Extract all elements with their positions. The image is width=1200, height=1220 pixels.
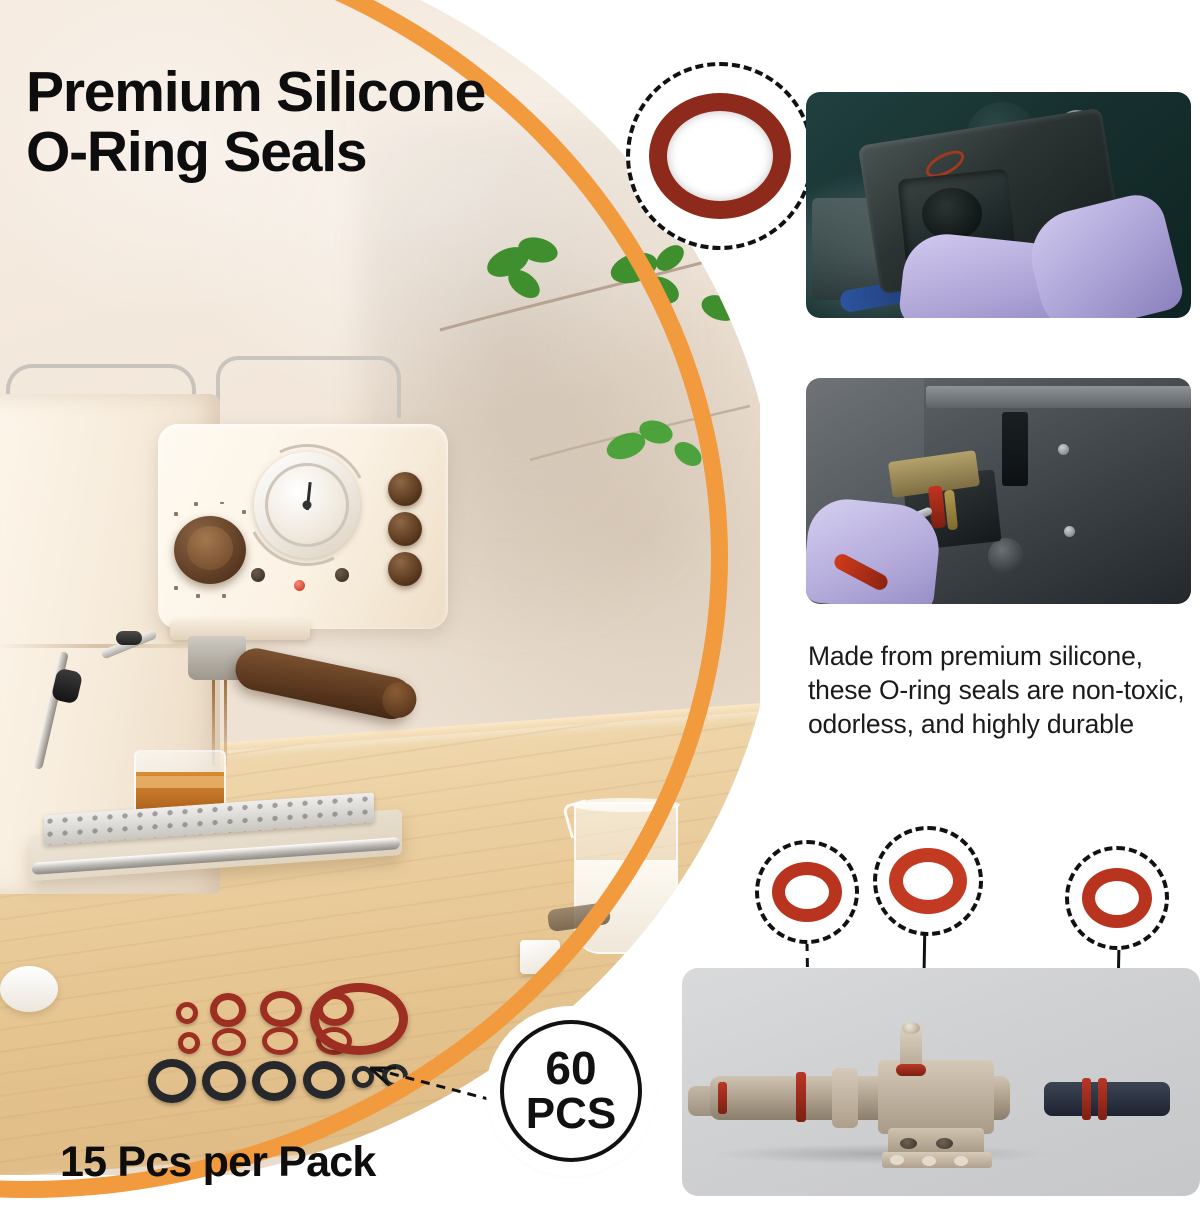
hero-oring-callout [626, 62, 814, 250]
right-oring-callout [1065, 846, 1169, 950]
leaf-branch-icon [420, 210, 760, 510]
indicator-dark-left [251, 568, 265, 582]
photo-valve-assembly [682, 968, 1200, 1196]
infographic-canvas: Premium Silicone O-Ring Seals Made fr [0, 0, 1200, 1200]
connector-pin-2 [936, 1138, 953, 1149]
dark-connector [1044, 1082, 1170, 1116]
portafilter-handle [232, 644, 417, 723]
quantity-badge: 60 PCS [493, 1013, 649, 1169]
photo-gloved-hand-screwdriver [806, 378, 1191, 604]
left-oring-callout [755, 840, 859, 944]
oring-black-1 [148, 1059, 196, 1103]
cup-rail-right [216, 356, 401, 418]
body-seam [0, 644, 206, 648]
title-line-2: O-Ring Seals [26, 122, 646, 182]
saucer [0, 966, 58, 1012]
quantity-badge-count: 60 [545, 1045, 596, 1091]
housing-screw-2 [1064, 526, 1075, 537]
selector-knob [174, 516, 246, 584]
knob-brew [388, 552, 422, 586]
product-oring-1 [718, 1082, 727, 1114]
oring-black-3 [252, 1061, 296, 1101]
center-oring-icon [889, 848, 967, 914]
oring-red-2 [210, 993, 246, 1027]
oring-red-7 [262, 1027, 298, 1055]
oring-red-5 [178, 1032, 200, 1054]
product-oring-4 [1082, 1078, 1091, 1120]
housing-rail [926, 386, 1191, 408]
oring-red-large [310, 983, 408, 1055]
left-oring-icon [772, 862, 842, 922]
oring-red-3 [260, 991, 302, 1027]
housing-slot [1002, 412, 1028, 486]
milk-pitcher [566, 784, 684, 959]
valve-stem-tip [902, 1022, 920, 1034]
connector-pin-1 [900, 1138, 917, 1149]
center-oring-callout [873, 826, 983, 936]
housing-bolt [988, 538, 1024, 574]
sugar-cube [520, 940, 560, 974]
oring-black-2 [202, 1061, 246, 1101]
knob-steam [388, 512, 422, 546]
indicator-red [294, 580, 305, 591]
espresso-machine [0, 352, 458, 912]
quantity-badge-ring: 60 PCS [500, 1020, 642, 1162]
product-oring-5 [1098, 1078, 1107, 1120]
mount-hole-3 [954, 1156, 968, 1166]
part-bore-hole [922, 188, 982, 240]
indicator-dark-right [335, 568, 349, 582]
product-oring-2 [796, 1072, 806, 1122]
mount-hole-1 [890, 1155, 904, 1165]
page-title: Premium Silicone O-Ring Seals [26, 62, 646, 183]
oring-red-6 [212, 1028, 246, 1056]
right-oring-icon [1082, 868, 1152, 928]
photo-gloved-hands-engine-part [806, 92, 1191, 318]
knob-power [388, 472, 422, 506]
hero-oring-icon [649, 93, 791, 219]
title-line-1: Premium Silicone [26, 62, 646, 122]
description-text: Made from premium silicone, these O-ring… [808, 640, 1200, 742]
pressure-gauge [265, 463, 349, 547]
espresso-crema [136, 776, 224, 788]
valve-collar [832, 1068, 858, 1128]
quantity-badge-unit: PCS [526, 1091, 616, 1137]
pack-note: 15 Pcs per Pack [60, 1138, 376, 1187]
oring-red-1 [176, 1002, 198, 1024]
housing-screw-1 [1058, 444, 1069, 455]
gauge-hub [303, 501, 312, 510]
mount-hole-2 [922, 1156, 936, 1166]
steam-wand-knob [116, 631, 142, 645]
product-oring-3 [896, 1064, 926, 1076]
